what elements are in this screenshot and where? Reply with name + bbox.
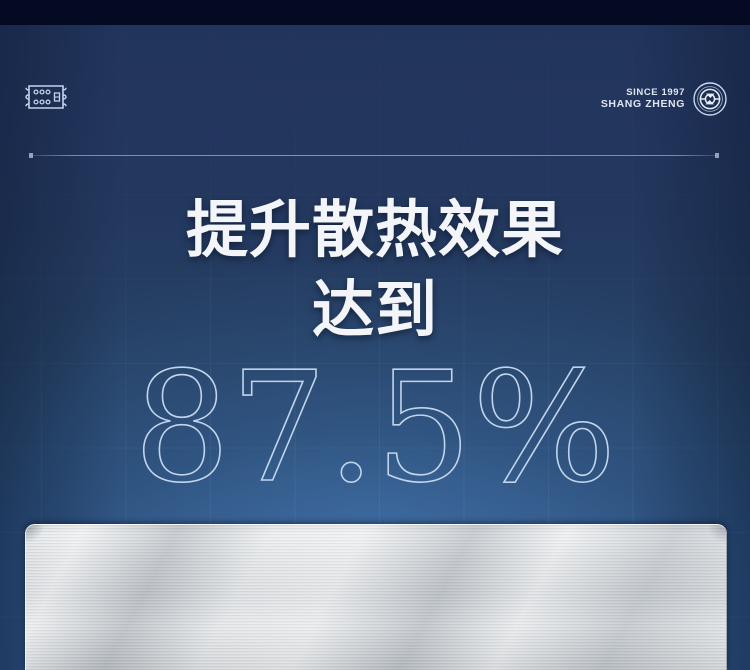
headline-line-2: 达到 — [0, 280, 750, 342]
stat-value-block: 87.5% — [0, 356, 750, 516]
header-divider-cap-right — [715, 153, 719, 158]
page-title: 提升散热效果 达到 — [0, 200, 750, 342]
header-divider-cap-left — [29, 153, 33, 158]
chip-module-icon — [25, 82, 67, 112]
brand-name-label: SHANG ZHENG — [601, 98, 685, 110]
company-seal-logo-icon — [693, 82, 727, 116]
brushed-metal-plate — [25, 524, 727, 670]
brand-text: SINCE 1997 SHANG ZHENG — [601, 87, 685, 111]
headline-line-1: 提升散热效果 — [0, 200, 750, 262]
top-dark-strip — [0, 0, 750, 25]
brand-lockup: SINCE 1997 SHANG ZHENG — [601, 82, 727, 116]
page-header: SINCE 1997 SHANG ZHENG — [0, 25, 750, 155]
stat-number-text: 87.5% — [134, 356, 617, 506]
stat-outline-number: 87.5% — [115, 356, 635, 506]
metal-edge-bevel — [25, 524, 727, 670]
brand-since-label: SINCE 1997 — [601, 87, 685, 98]
header-divider — [30, 155, 718, 156]
promo-page: SINCE 1997 SHANG ZHENG 提升散热效果 — [0, 0, 750, 670]
